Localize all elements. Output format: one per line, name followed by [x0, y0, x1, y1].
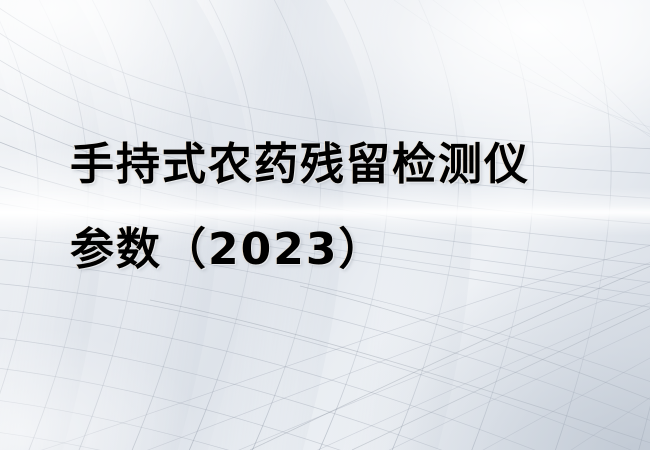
banner-title: 手持式农药残留检测仪 参数（2023） — [70, 122, 630, 292]
title-line-1: 手持式农药残留检测仪 — [70, 122, 630, 207]
title-line-2: 参数（2023） — [70, 207, 630, 292]
title-banner: 手持式农药残留检测仪 参数（2023） — [0, 0, 650, 450]
